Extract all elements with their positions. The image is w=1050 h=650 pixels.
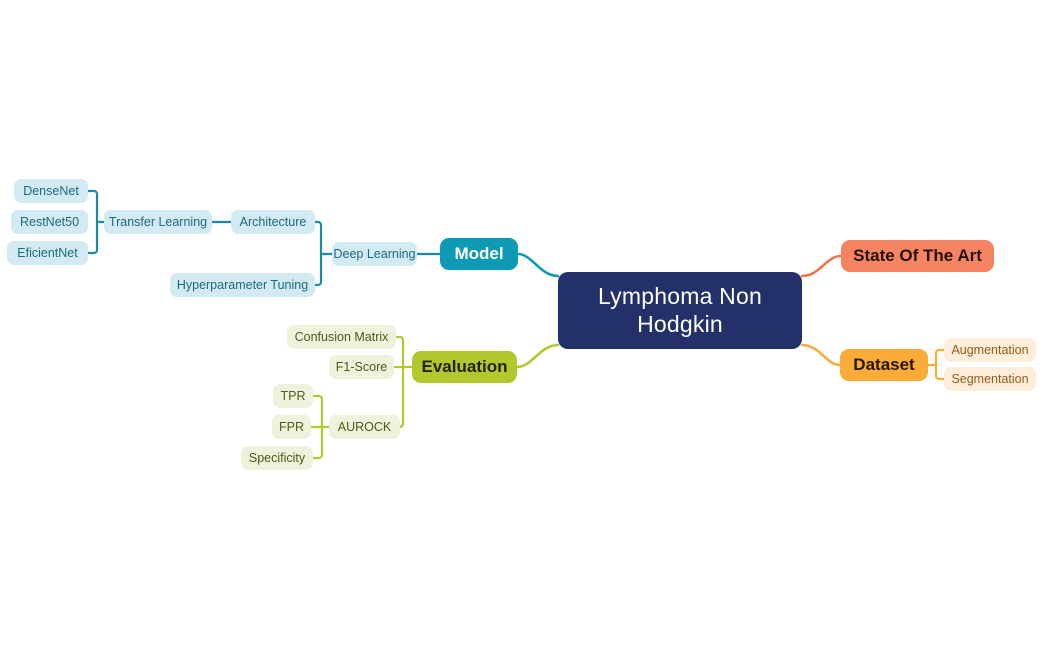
- node-specificity[interactable]: Specificity: [241, 446, 313, 470]
- node-label-architecture: Architecture: [240, 215, 307, 230]
- node-label-tpr: TPR: [281, 389, 306, 404]
- node-label-transfer-learning: Transfer Learning: [109, 215, 207, 230]
- mindmap-canvas: Lymphoma Non Hodgkin Model Deep Learning…: [0, 0, 1050, 650]
- branch-label-state-of-the-art: State Of The Art: [853, 246, 982, 266]
- node-transfer-learning[interactable]: Transfer Learning: [104, 210, 212, 234]
- branch-node-dataset[interactable]: Dataset: [840, 349, 928, 381]
- node-densenet[interactable]: DenseNet: [14, 179, 88, 203]
- node-label-deep-learning: Deep Learning: [334, 247, 416, 262]
- root-node[interactable]: Lymphoma Non Hodgkin: [558, 272, 802, 349]
- bracket-dataset: [936, 350, 944, 379]
- bracket-evaluation: [396, 337, 403, 427]
- bracket-transferlearning: [88, 191, 97, 253]
- branch-node-state-of-the-art[interactable]: State Of The Art: [841, 240, 994, 272]
- node-restnet50[interactable]: RestNet50: [11, 210, 88, 234]
- root-label-line2: Hodgkin: [637, 311, 723, 338]
- branch-label-evaluation: Evaluation: [422, 357, 508, 377]
- node-label-segmentation: Segmentation: [951, 372, 1028, 387]
- node-augmentation[interactable]: Augmentation: [944, 338, 1036, 362]
- node-label-specificity: Specificity: [249, 451, 305, 466]
- node-label-fpr: FPR: [279, 420, 304, 435]
- connector-layer: [0, 0, 1050, 650]
- bracket-deeplearning: [315, 222, 321, 285]
- node-segmentation[interactable]: Segmentation: [944, 367, 1036, 391]
- link-root-model: [518, 254, 558, 276]
- node-label-hyperparameter-tuning: Hyperparameter Tuning: [177, 278, 308, 293]
- branch-label-model: Model: [454, 244, 503, 264]
- branch-label-dataset: Dataset: [853, 355, 914, 375]
- node-eficientnet[interactable]: EficientNet: [7, 241, 88, 265]
- branch-node-evaluation[interactable]: Evaluation: [412, 351, 517, 383]
- bracket-aurock: [313, 396, 322, 458]
- link-root-evaluation: [517, 345, 558, 367]
- node-fpr[interactable]: FPR: [272, 415, 311, 439]
- node-confusion-matrix[interactable]: Confusion Matrix: [287, 325, 396, 349]
- branch-node-model[interactable]: Model: [440, 238, 518, 270]
- node-label-f1-score: F1-Score: [336, 360, 387, 375]
- node-deep-learning[interactable]: Deep Learning: [332, 242, 417, 266]
- node-label-densenet: DenseNet: [23, 184, 79, 199]
- node-aurock[interactable]: AUROCK: [329, 415, 400, 439]
- link-root-stateoftheart: [802, 256, 841, 276]
- node-label-eficientnet: EficientNet: [17, 246, 77, 261]
- node-label-restnet50: RestNet50: [20, 215, 79, 230]
- node-architecture[interactable]: Architecture: [231, 210, 315, 234]
- node-tpr[interactable]: TPR: [273, 384, 313, 408]
- node-label-aurock: AUROCK: [338, 420, 391, 435]
- root-label-line1: Lymphoma Non: [598, 283, 762, 310]
- node-f1-score[interactable]: F1-Score: [329, 355, 394, 379]
- link-root-dataset: [802, 345, 840, 365]
- node-label-confusion-matrix: Confusion Matrix: [295, 330, 389, 345]
- node-hyperparameter-tuning[interactable]: Hyperparameter Tuning: [170, 273, 315, 297]
- node-label-augmentation: Augmentation: [951, 343, 1028, 358]
